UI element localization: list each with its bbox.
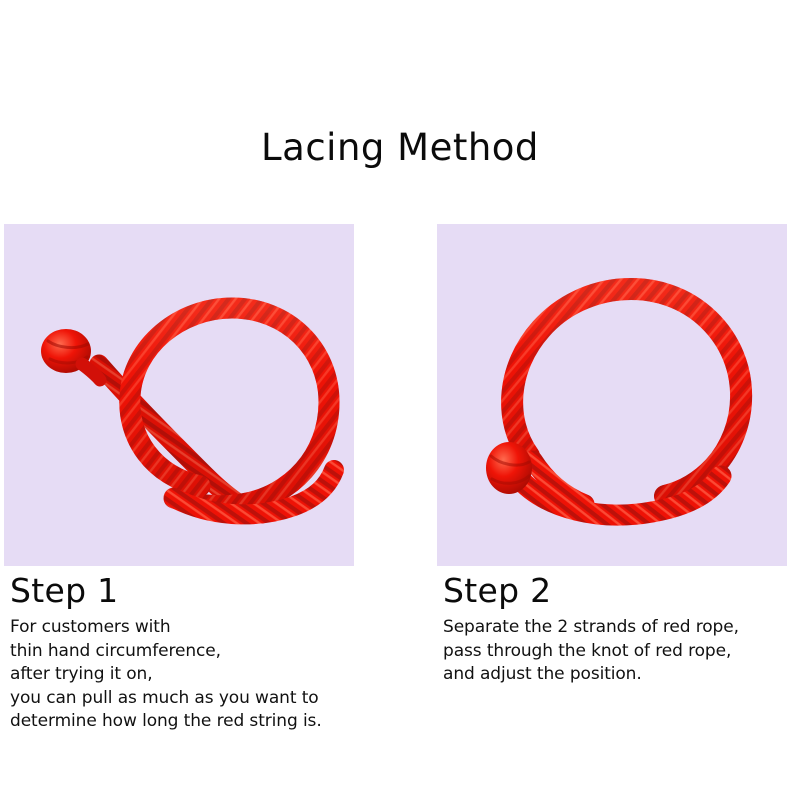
step-2-description: Separate the 2 strands of red rope, pass… [443, 616, 795, 687]
step-1-text-block: Step 1 For customers with thin hand circ… [10, 572, 430, 734]
lacing-method-page: Lacing Method [0, 0, 800, 800]
red-rope-closed-bracelet-graphic [437, 224, 787, 566]
step-2-illustration-panel [437, 224, 787, 566]
step-1-illustration-panel [4, 224, 354, 566]
page-title: Lacing Method [0, 126, 800, 170]
step-1-description: For customers with thin hand circumferen… [10, 616, 430, 734]
step-1-heading: Step 1 [10, 572, 430, 610]
red-rope-open-loop-graphic [4, 224, 354, 566]
step-2-text-block: Step 2 Separate the 2 strands of red rop… [443, 572, 795, 687]
step-2-heading: Step 2 [443, 572, 795, 610]
